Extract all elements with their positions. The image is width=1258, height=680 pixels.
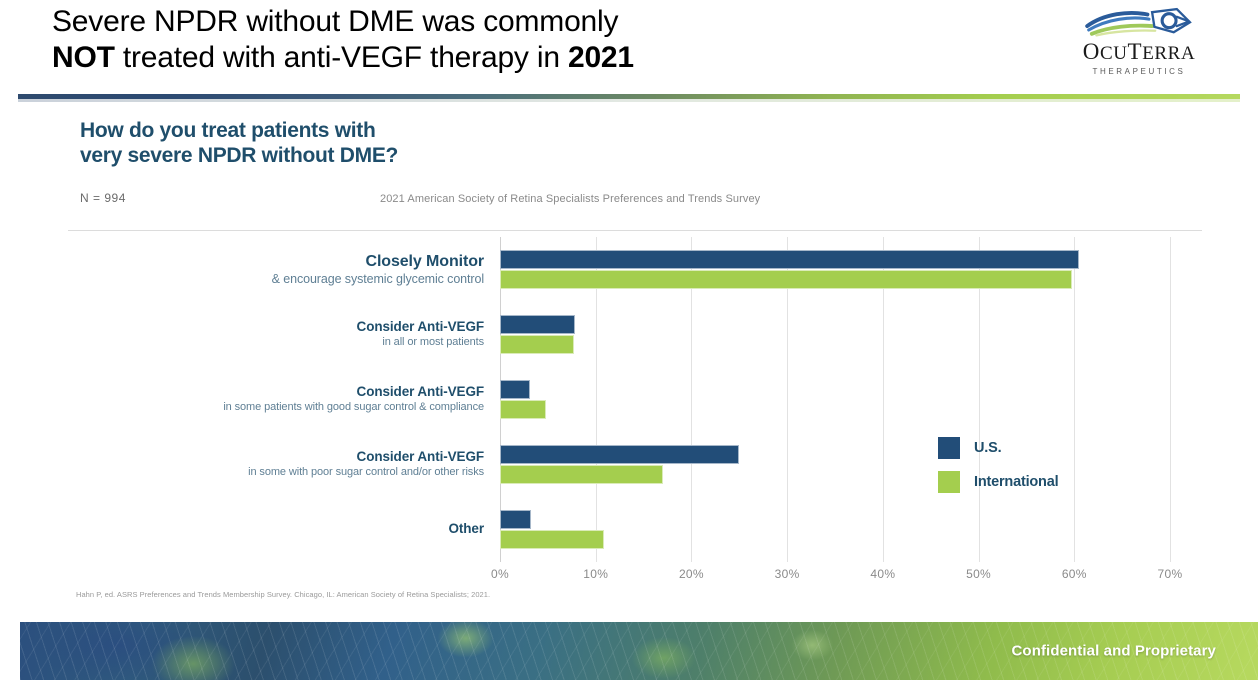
page-title: Severe NPDR without DME was commonly NOT… [52, 4, 1012, 76]
chart-card: How do you treat patients with very seve… [60, 112, 1210, 607]
title-line-1: Severe NPDR without DME was commonly [52, 4, 1012, 40]
chart-legend: U.S.International [938, 437, 1128, 505]
x-tick-label-40%: 40% [870, 567, 895, 581]
header-accent-rule-shadow [18, 99, 1240, 102]
title-emphasis-not: NOT [52, 41, 115, 74]
x-tick-label-70%: 70% [1158, 567, 1183, 581]
category-label-main-0: Closely Monitor [54, 252, 484, 271]
category-label-0: Closely Monitor& encourage systemic glyc… [54, 252, 484, 287]
gridline-70% [1170, 237, 1171, 562]
chart-citation: Hahn P, ed. ASRS Preferences and Trends … [76, 590, 490, 599]
title-emphasis-year: 2021 [568, 41, 634, 74]
chart-question-line-2: very severe NPDR without DME? [80, 143, 398, 168]
confidentiality-notice: Confidential and Proprietary [1012, 643, 1217, 660]
x-tick-label-0%: 0% [491, 567, 509, 581]
gridline-60% [1074, 237, 1075, 562]
logo-letter-o: O [1083, 39, 1100, 64]
x-tick-label-10%: 10% [583, 567, 608, 581]
chart-question-title: How do you treat patients with very seve… [80, 118, 398, 168]
category-label-2: Consider Anti-VEGFin some patients with … [54, 384, 484, 414]
slide-root: Severe NPDR without DME was commonly NOT… [0, 0, 1258, 680]
bar-international-2 [500, 400, 546, 419]
title-mid-text: treated with anti-VEGF therapy in [115, 41, 568, 74]
bar-international-0 [500, 270, 1072, 289]
slide-footer: Confidential and Proprietary [20, 622, 1258, 680]
bar-international-4 [500, 530, 604, 549]
slide-header: Severe NPDR without DME was commonly NOT… [0, 0, 1258, 92]
bar-us-1 [500, 315, 575, 334]
category-label-sub-1: in all or most patients [54, 335, 484, 349]
bar-us-0 [500, 250, 1079, 269]
x-tick-label-30%: 30% [775, 567, 800, 581]
category-label-main-1: Consider Anti-VEGF [54, 319, 484, 335]
legend-swatch-icon-0 [938, 437, 960, 459]
category-label-sub-2: in some patients with good sugar control… [54, 400, 484, 414]
logo-letters-erra: ERRA [1142, 43, 1195, 64]
legend-item-international: International [938, 471, 1128, 493]
category-label-main-3: Consider Anti-VEGF [54, 449, 484, 465]
category-label-3: Consider Anti-VEGFin some with poor suga… [54, 449, 484, 479]
bar-us-2 [500, 380, 530, 399]
legend-swatch-icon-1 [938, 471, 960, 493]
category-label-main-2: Consider Anti-VEGF [54, 384, 484, 400]
survey-source-label: 2021 American Society of Retina Speciali… [380, 193, 760, 205]
category-label-sub-0: & encourage systemic glycemic control [54, 271, 484, 287]
chart-question-line-1: How do you treat patients with [80, 118, 398, 143]
ocuterra-logo: OCUTERRA THERAPEUTICS [1054, 6, 1224, 84]
logo-letter-t: T [1128, 39, 1143, 64]
title-line-2: NOT treated with anti-VEGF therapy in 20… [52, 40, 1012, 76]
bar-international-3 [500, 465, 663, 484]
card-divider [68, 230, 1202, 231]
chart-x-axis: 0%10%20%30%40%50%60%70% [500, 567, 1170, 587]
x-tick-label-20%: 20% [679, 567, 704, 581]
legend-item-us: U.S. [938, 437, 1128, 459]
category-label-sub-3: in some with poor sugar control and/or o… [54, 465, 484, 479]
x-tick-label-60%: 60% [1062, 567, 1087, 581]
logo-letters-cu: CU [1100, 43, 1128, 64]
logo-tagline: THERAPEUTICS [1054, 67, 1224, 76]
category-label-1: Consider Anti-VEGFin all or most patient… [54, 319, 484, 349]
legend-label-0: U.S. [974, 440, 1001, 456]
bar-us-3 [500, 445, 739, 464]
bar-international-1 [500, 335, 574, 354]
eye-logo-icon [1081, 6, 1197, 40]
footer-left-margin [0, 622, 20, 680]
bar-us-4 [500, 510, 531, 529]
x-tick-label-50%: 50% [966, 567, 991, 581]
sample-size-label: N = 994 [80, 191, 126, 205]
chart-plot-area [500, 237, 1170, 562]
logo-wordmark: OCUTERRA [1054, 42, 1224, 64]
legend-label-1: International [974, 474, 1058, 490]
category-label-4: Other [54, 521, 484, 537]
category-label-main-4: Other [54, 521, 484, 537]
